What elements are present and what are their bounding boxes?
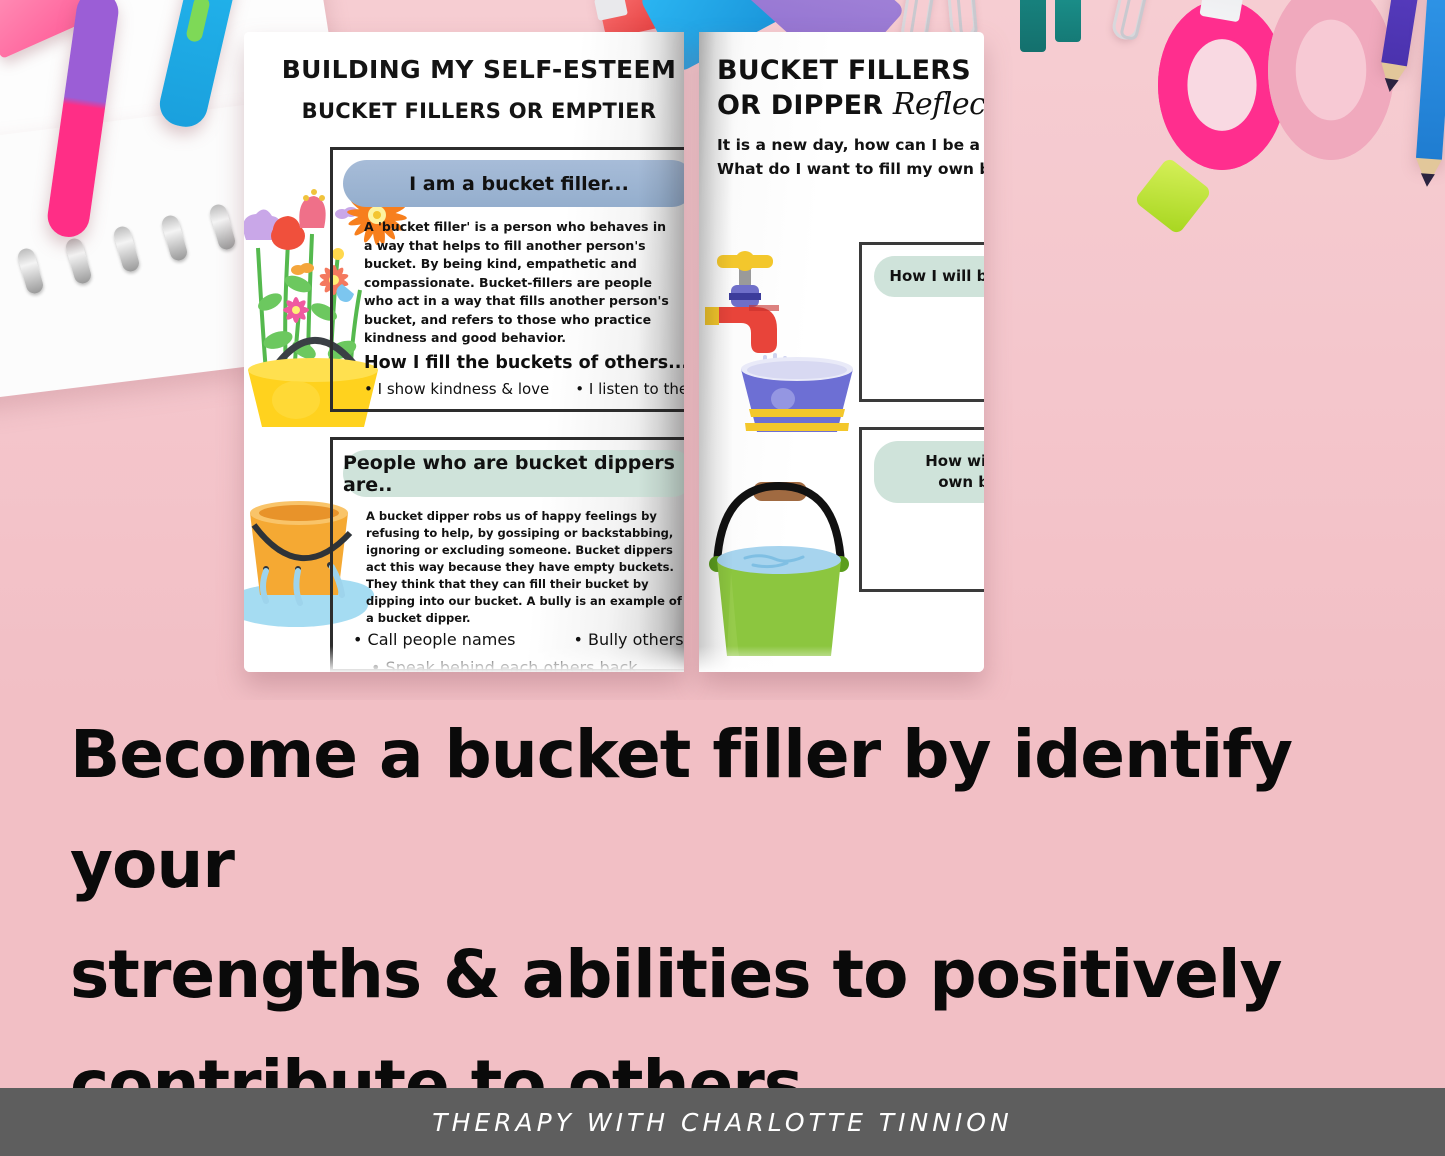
answer-box-how-i-will-be-a-bucket-filler[interactable]: How I will be a bucket filler [859,242,984,402]
promo-headline: Become a bucket filler by identify your … [70,700,1360,1140]
reflective-question-1: It is a new day, how can I be a bucket f… [717,133,984,157]
page-title: BUILDING MY SELF-ESTEEM [244,55,684,84]
answer-box-2-label: How will I keep my own bucket fill? [874,441,984,503]
teal-marker-1 [1020,0,1046,52]
green-clip [1134,157,1213,236]
workbook-left-page: BUILDING MY SELF-ESTEEM BUCKET FILLERS O… [244,32,684,672]
bucket-filler-card: I am a bucket filler... A 'bucket filler… [330,147,684,412]
list-item: • Bully others [574,630,684,649]
teal-marker-2 [1055,0,1081,42]
right-page-title-script: Reflective Questions [893,87,984,122]
list-item: • Call people names [353,630,516,649]
reflective-question-2: What do I want to fill my own bucket wit… [717,157,984,181]
bucket-dipper-paragraph: A bucket dipper robs us of happy feeling… [366,508,684,627]
bucket-filler-bullets: • I show kindness & love • I listen to t… [364,380,684,398]
headline-line-1: Become a bucket filler by identify your [70,700,1360,920]
faucet-and-purple-bucket-illustration [705,237,865,432]
list-item: • I show kindness & love [364,380,549,398]
bucket-dipper-bullets: • Call people names • Bully others • Spe… [353,630,684,672]
list-item: • Speak behind each others back [371,658,638,672]
fill-buckets-subhead: How I fill the buckets of others... [364,353,684,373]
bucket-filler-pill: I am a bucket filler... [343,160,684,207]
bucket-dipper-card: People who are bucket dippers are.. A bu… [330,437,684,672]
blue-pencil [1416,0,1445,163]
right-page-title-bold: OR DIPPER [717,90,883,121]
list-item: • I listen to them [575,380,684,398]
footer-bar: THERAPY WITH CHARLOTTE TINNION [0,1088,1445,1156]
right-page-title-line1: BUCKET FILLERS [717,54,984,88]
right-page-title-line2: OR DIPPER Reflective Questions [717,88,984,123]
open-workbook: BUILDING MY SELF-ESTEEM BUCKET FILLERS O… [244,32,984,680]
paper-clip-3 [1110,0,1152,42]
bucket-filler-paragraph: A 'bucket filler' is a person who behave… [364,218,674,348]
bucket-dipper-pill: People who are bucket dippers are.. [343,450,684,497]
background-photo: BUILDING MY SELF-ESTEEM BUCKET FILLERS O… [0,0,1445,700]
answer-box-how-will-i-keep-my-own-bucket-fill[interactable]: How will I keep my own bucket fill? [859,427,984,592]
page-subtitle: BUCKET FILLERS OR EMPTIER [244,99,684,123]
headline-line-2: strengths & abilities to positively [70,920,1360,1030]
green-bucket-illustration [699,472,865,672]
workbook-right-page: BUCKET FILLERS OR DIPPER Reflective Ques… [699,32,984,672]
answer-box-1-label: How I will be a bucket filler [874,256,984,297]
purple-pencil [1381,0,1425,69]
brand-name: THERAPY WITH CHARLOTTE TINNION [432,1108,1012,1137]
